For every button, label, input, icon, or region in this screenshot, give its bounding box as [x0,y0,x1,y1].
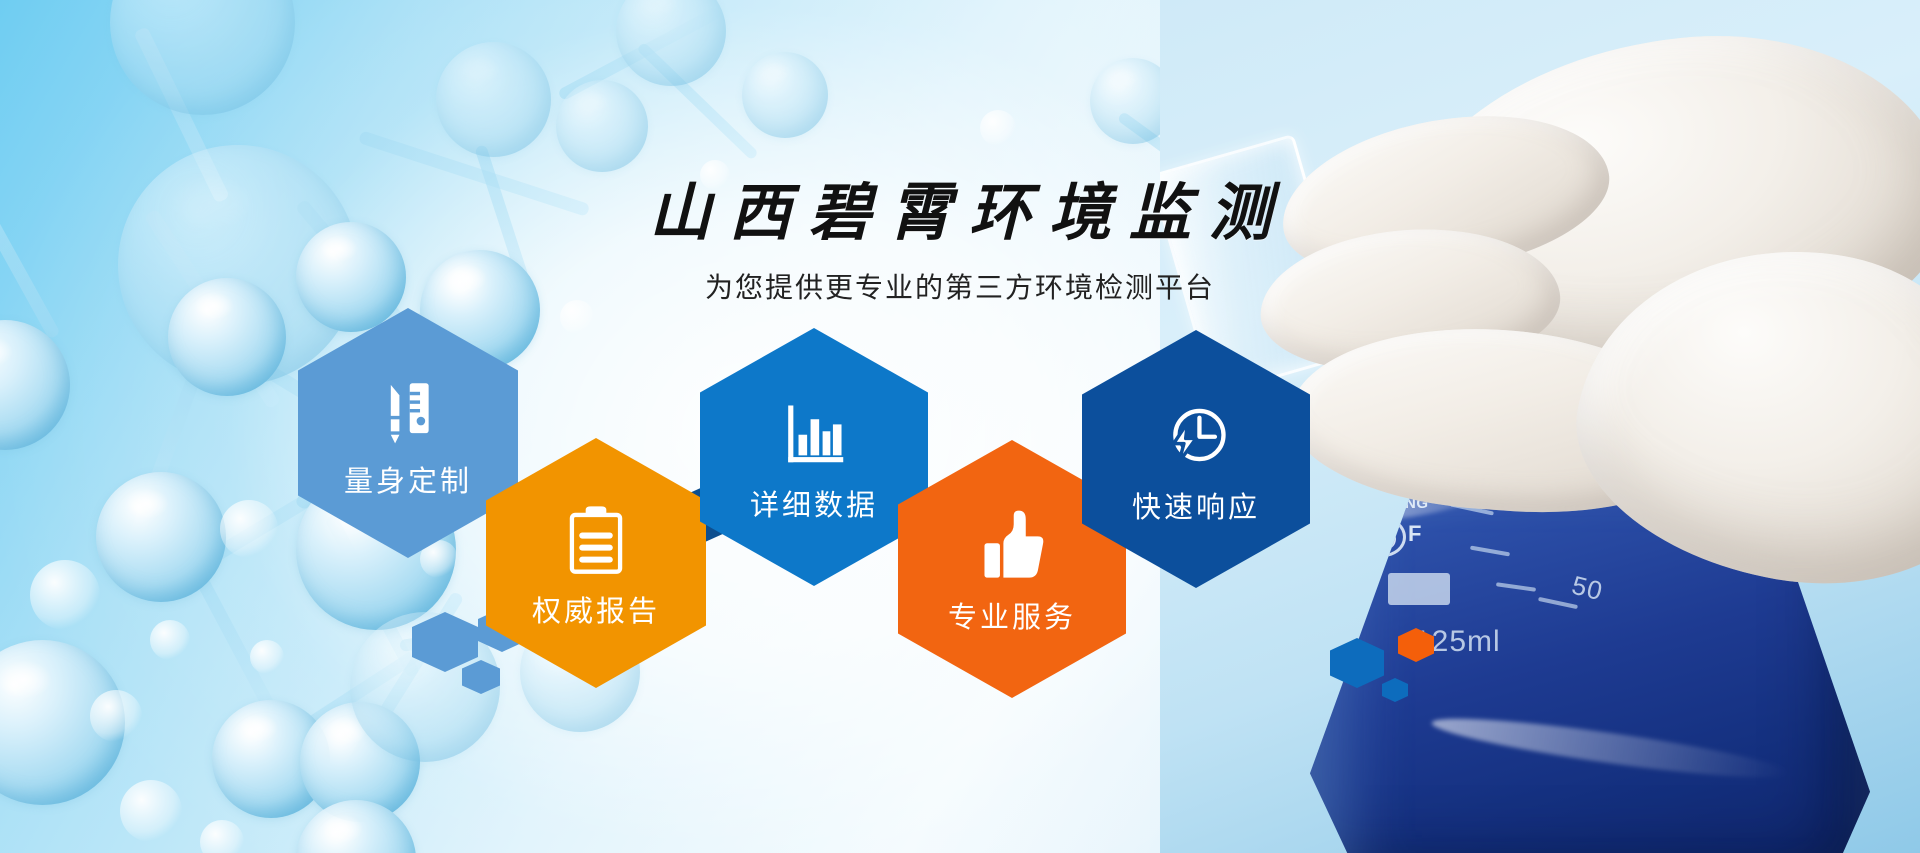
bokeh-dot [200,820,244,853]
feature-label-service: 专业服务 [948,594,1076,636]
clock-bolt-icon [1153,392,1239,478]
headline-block: 山西碧霄环境监测 为您提供更专业的第三方环境检测平台 [0,0,1920,306]
flask-tick [1496,582,1536,592]
bokeh-dot [30,560,100,630]
page-subtitle: 为您提供更专业的第三方环境检测平台 [0,266,1920,306]
feature-label-response: 快速响应 [1132,484,1260,526]
flask-white-label [1388,573,1450,605]
bokeh-dot [120,780,182,842]
page-title: 山西碧霄环境监测 [0,162,1920,252]
flask-tick [1470,546,1510,557]
pencil-ruler-icon [365,366,451,452]
environmental-monitoring-banner: TAI FONG T F 125ml 100 50 山西碧霄环境监测 为您提供更… [0,0,1920,853]
thumbs-up-icon [969,502,1055,588]
molecule-atom [0,320,70,450]
clipboard-icon [553,496,639,582]
flask-highlight [1430,708,1791,788]
bar-chart-icon [771,390,857,476]
bokeh-dot [150,620,190,660]
feature-label-report: 权威报告 [532,588,660,630]
feature-label-custom: 量身定制 [344,458,472,500]
flask-brand-letter-f: F [1408,521,1422,547]
molecule-atom [96,472,226,602]
molecule-atom [0,640,125,805]
flask-graduation-50: 50 [1569,570,1607,608]
feature-label-data: 详细数据 [750,482,878,524]
